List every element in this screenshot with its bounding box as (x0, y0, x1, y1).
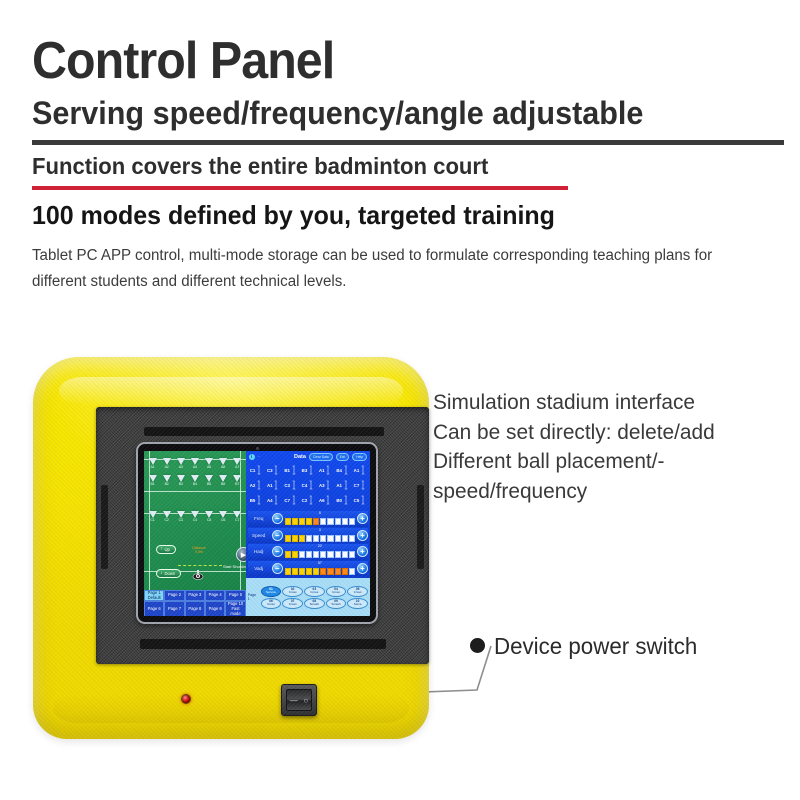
mode-page-label: Page 1 (248, 593, 259, 602)
trajectory-dashes (178, 565, 222, 566)
shuttle-icon (149, 511, 157, 518)
data-cell[interactable]: A1 (334, 478, 350, 492)
data-cell[interactable]: C7 (352, 478, 368, 492)
infographic-page: Control Panel Serving speed/frequency/an… (0, 0, 800, 800)
page-tab-9[interactable]: Page 9 (205, 601, 225, 616)
shuttle-icon (219, 475, 227, 482)
shuttle-B1[interactable]: B1 (147, 475, 158, 486)
data-cell[interactable]: C1 (248, 463, 264, 477)
menu-dots-icon[interactable]: ·· (258, 454, 261, 459)
power-led-indicator (181, 694, 191, 704)
slider-bar-vadj[interactable]: 57 (285, 562, 355, 575)
data-cell-grid[interactable]: C1 C3 B1 B3 A1 B4 A1 A2 A1 C3 C4 A3 (246, 462, 370, 509)
annotation-line-4: speed/frequency (433, 477, 782, 507)
data-cell[interactable]: A1 (352, 463, 368, 477)
callout-dot-icon (470, 638, 485, 653)
court-row-B: B1 B2 B3 B4 B5 B6 B7 (147, 475, 243, 486)
case-shadow-bottom (53, 693, 409, 723)
shuttle-icon (149, 458, 157, 465)
decrement-freq-button[interactable]: − (272, 513, 283, 524)
shuttle-icon (191, 475, 199, 482)
shuttle-icon (205, 475, 213, 482)
control-panel-device: A1 A2 A3 A4 A5 A6 A7 B1 B2 B3 B4 (33, 357, 429, 739)
modes-headline: 100 modes defined by you, targeted train… (32, 200, 754, 231)
shuttle-A5[interactable]: A5 (203, 458, 214, 469)
shuttle-icon (163, 458, 171, 465)
shuttle-C3[interactable]: C3 (175, 511, 186, 522)
data-panel: i ·· Data Clear Data Exit Help C1 C3 B1 … (246, 451, 370, 616)
start-shooting-label: Start Shooting (223, 564, 248, 569)
shuttle-icon (233, 475, 241, 482)
page-tab-1[interactable]: Page 1Default (144, 590, 164, 601)
slider-bar-speed[interactable]: 3 (285, 529, 355, 542)
help-button[interactable]: Help (352, 453, 367, 461)
panel-title: Data (294, 454, 306, 460)
shuttle-B6[interactable]: B6 (218, 475, 229, 486)
page-tab-10[interactable]: Page 10Fast mode (225, 601, 245, 616)
body-paragraph: Tablet PC APP control, multi-mode storag… (32, 243, 744, 293)
tablet-device: A1 A2 A3 A4 A5 A6 A7 B1 B2 B3 B4 (136, 442, 378, 624)
data-cell[interactable]: A1 (317, 463, 333, 477)
header-block: Control Panel Serving speed/frequency/an… (32, 34, 784, 294)
data-cell[interactable]: C3 (265, 463, 281, 477)
page-tab-5[interactable]: Page 5 (225, 590, 245, 601)
page-tab-8[interactable]: Page 8 (185, 601, 205, 616)
shuttle-C6[interactable]: C6 (218, 511, 229, 522)
mode-button-10[interactable]: 10Serve (347, 598, 368, 609)
data-cell[interactable]: A2 (248, 478, 264, 492)
slider-bar-freq[interactable]: 5 (285, 512, 355, 525)
mode-button-05[interactable]: 05Cross (347, 586, 368, 597)
annotation-line-2: Can be set directly: delete/add (433, 418, 782, 448)
shuttle-icon (233, 511, 241, 518)
slider-group: Freq − 5 + Speed (246, 511, 370, 576)
mode-button-09[interactable]: 09Smash (326, 598, 347, 609)
shuttle-icon (163, 475, 171, 482)
foam-slot-top (144, 427, 384, 436)
page-tab-7[interactable]: Page 7 (164, 601, 184, 616)
mode-button-07[interactable]: 07Cross (282, 598, 303, 609)
mode-button-01[interactable]: 01Service (261, 586, 282, 597)
data-cell[interactable]: B0 (334, 493, 350, 507)
page-title: Control Panel (32, 34, 731, 89)
slider-label-speed: Speed (248, 533, 270, 538)
increment-vadj-button[interactable]: + (357, 563, 368, 574)
foam-slot-bottom (140, 639, 386, 649)
data-cell[interactable]: C2 (300, 493, 316, 507)
data-cell[interactable]: C5 (352, 493, 368, 507)
panel-toolbar: i ·· Data Clear Data Exit Help (246, 451, 370, 462)
tablet-screen: A1 A2 A3 A4 A5 A6 A7 B1 B2 B3 B4 (144, 451, 370, 616)
mode-button-area: Page 1 01Service 02Cross 03Cross 04Cross… (246, 578, 370, 616)
page-subtitle: Serving speed/frequency/angle adjustable (32, 95, 750, 132)
shuttle-icon (163, 511, 171, 518)
data-cell[interactable]: B4 (334, 463, 350, 477)
exit-button[interactable]: Exit (336, 453, 350, 461)
shuttle-icon (191, 511, 199, 518)
data-cell[interactable]: A6 (317, 493, 333, 507)
move-up-button[interactable]: ↑ Up (156, 545, 176, 554)
decrement-hadj-button[interactable]: − (272, 546, 283, 557)
foam-clip-right (417, 485, 424, 569)
shuttle-A3[interactable]: A3 (175, 458, 186, 469)
rocker-face[interactable]: — ○ (286, 689, 312, 711)
shuttle-B7[interactable]: B7 (232, 475, 243, 486)
shuttle-C5[interactable]: C5 (203, 511, 214, 522)
data-cell[interactable]: C4 (300, 478, 316, 492)
shuttle-A7[interactable]: A7 (232, 458, 243, 469)
data-cell[interactable]: B3 (300, 463, 316, 477)
foam-frame: A1 A2 A3 A4 A5 A6 A7 B1 B2 B3 B4 (96, 407, 429, 664)
shuttle-A1[interactable]: A1 (147, 458, 158, 469)
data-cell[interactable]: C3 (282, 478, 298, 492)
shuttle-icon (205, 511, 213, 518)
page-tab-6[interactable]: Page 6 (144, 601, 164, 616)
shuttle-A6[interactable]: A6 (218, 458, 229, 469)
mode-button-08[interactable]: 08Smash (304, 598, 325, 609)
move-down-label: Down (165, 571, 176, 576)
shuttle-icon (233, 458, 241, 465)
foam-clip-left (101, 485, 108, 569)
mode-button-04[interactable]: 04Cross (326, 586, 347, 597)
data-cell[interactable]: C7 (282, 493, 298, 507)
distance-note: Distance0.5m (184, 547, 214, 554)
move-down-button[interactable]: ↓ Down (156, 569, 181, 578)
annotation-line-3: Different ball placement/- (433, 447, 782, 477)
shuttle-icon (191, 458, 199, 465)
shuttle-icon (177, 475, 185, 482)
decrement-vadj-button[interactable]: − (272, 563, 283, 574)
slider-value-vadj: 57 (318, 561, 322, 565)
info-icon[interactable]: i (249, 454, 255, 460)
shuttle-icon (177, 458, 185, 465)
power-switch-label: Device power switch (494, 633, 697, 660)
increment-speed-button[interactable]: + (357, 530, 368, 541)
slider-label-hadj: Hadj (248, 549, 270, 554)
divider-dark (32, 140, 784, 145)
machine-icon (192, 569, 204, 580)
data-cell[interactable]: B1 (282, 463, 298, 477)
slider-label-vadj: Vadj (248, 566, 270, 571)
court-row-C: C1 C2 C3 C4 C5 C6 C7 (147, 511, 243, 522)
slider-value-hadj: 22 (318, 544, 322, 548)
camera-icon (256, 447, 259, 450)
shuttle-C2[interactable]: C2 (161, 511, 172, 522)
data-cell[interactable]: A3 (317, 478, 333, 492)
shuttle-B5[interactable]: B5 (203, 475, 214, 486)
shuttle-A2[interactable]: A2 (161, 458, 172, 469)
slider-bar-hadj[interactable]: 22 (285, 545, 355, 558)
slider-label-freq: Freq (248, 516, 270, 521)
shuttle-icon (149, 475, 157, 482)
data-cell[interactable]: A4 (265, 493, 281, 507)
decrement-speed-button[interactable]: − (272, 530, 283, 541)
page-tab-4[interactable]: Page 4 (205, 590, 225, 601)
shuttle-C4[interactable]: C4 (189, 511, 200, 522)
annotation-line-1: Simulation stadium interface (433, 388, 782, 418)
shuttle-C7[interactable]: C7 (232, 511, 243, 522)
data-cell[interactable]: A1 (265, 478, 281, 492)
increment-hadj-button[interactable]: + (357, 546, 368, 557)
page-tab-2[interactable]: Page 2 (164, 590, 184, 601)
mode-button-02[interactable]: 02Cross (282, 586, 303, 597)
arrow-up-icon: ↑ (160, 547, 163, 552)
shuttle-icon (177, 511, 185, 518)
shuttle-B2[interactable]: B2 (161, 475, 172, 486)
mode-button-03[interactable]: 03Cross (304, 586, 325, 597)
court-view[interactable]: A1 A2 A3 A4 A5 A6 A7 B1 B2 B3 B4 (144, 451, 246, 616)
mode-button-06[interactable]: 06Cross (261, 598, 282, 609)
slider-value-speed: 3 (319, 528, 321, 532)
shuttle-icon (219, 458, 227, 465)
rocker-off-mark: — (290, 696, 298, 705)
shuttle-C1[interactable]: C1 (147, 511, 158, 522)
move-up-label: Up (165, 547, 170, 552)
arrow-down-icon: ↓ (160, 571, 163, 576)
power-rocker-switch[interactable]: — ○ (281, 684, 317, 716)
tagline: Function covers the entire badminton cou… (32, 153, 754, 180)
mode-grid[interactable]: 01Service 02Cross 03Cross 04Cross 05Cros… (261, 586, 368, 609)
clear-data-button[interactable]: Clear Data (309, 453, 333, 461)
page-tab-3[interactable]: Page 3 (185, 590, 205, 601)
slider-row-speed: Speed − 3 + (248, 528, 368, 544)
shuttle-A4[interactable]: A4 (189, 458, 200, 469)
divider-red (32, 186, 568, 190)
slider-row-hadj: Hadj − 22 + (248, 544, 368, 560)
case-highlight-top (59, 377, 403, 405)
slider-row-freq: Freq − 5 + (248, 511, 368, 527)
increment-freq-button[interactable]: + (357, 513, 368, 524)
page-tabs[interactable]: Page 1Default Page 2 Page 3 Page 4 Page … (144, 590, 246, 616)
data-cell[interactable]: B5 (248, 493, 264, 507)
slider-row-vadj: Vadj − 57 + (248, 561, 368, 577)
court-row-A: A1 A2 A3 A4 A5 A6 A7 (147, 458, 243, 469)
shuttle-B4[interactable]: B4 (189, 475, 200, 486)
interface-annotation: Simulation stadium interface Can be set … (433, 388, 782, 507)
shuttle-icon (205, 458, 213, 465)
slider-value-freq: 5 (319, 511, 321, 515)
shuttle-B3[interactable]: B3 (175, 475, 186, 486)
shuttle-icon (219, 511, 227, 518)
rocker-on-mark: ○ (303, 696, 308, 705)
